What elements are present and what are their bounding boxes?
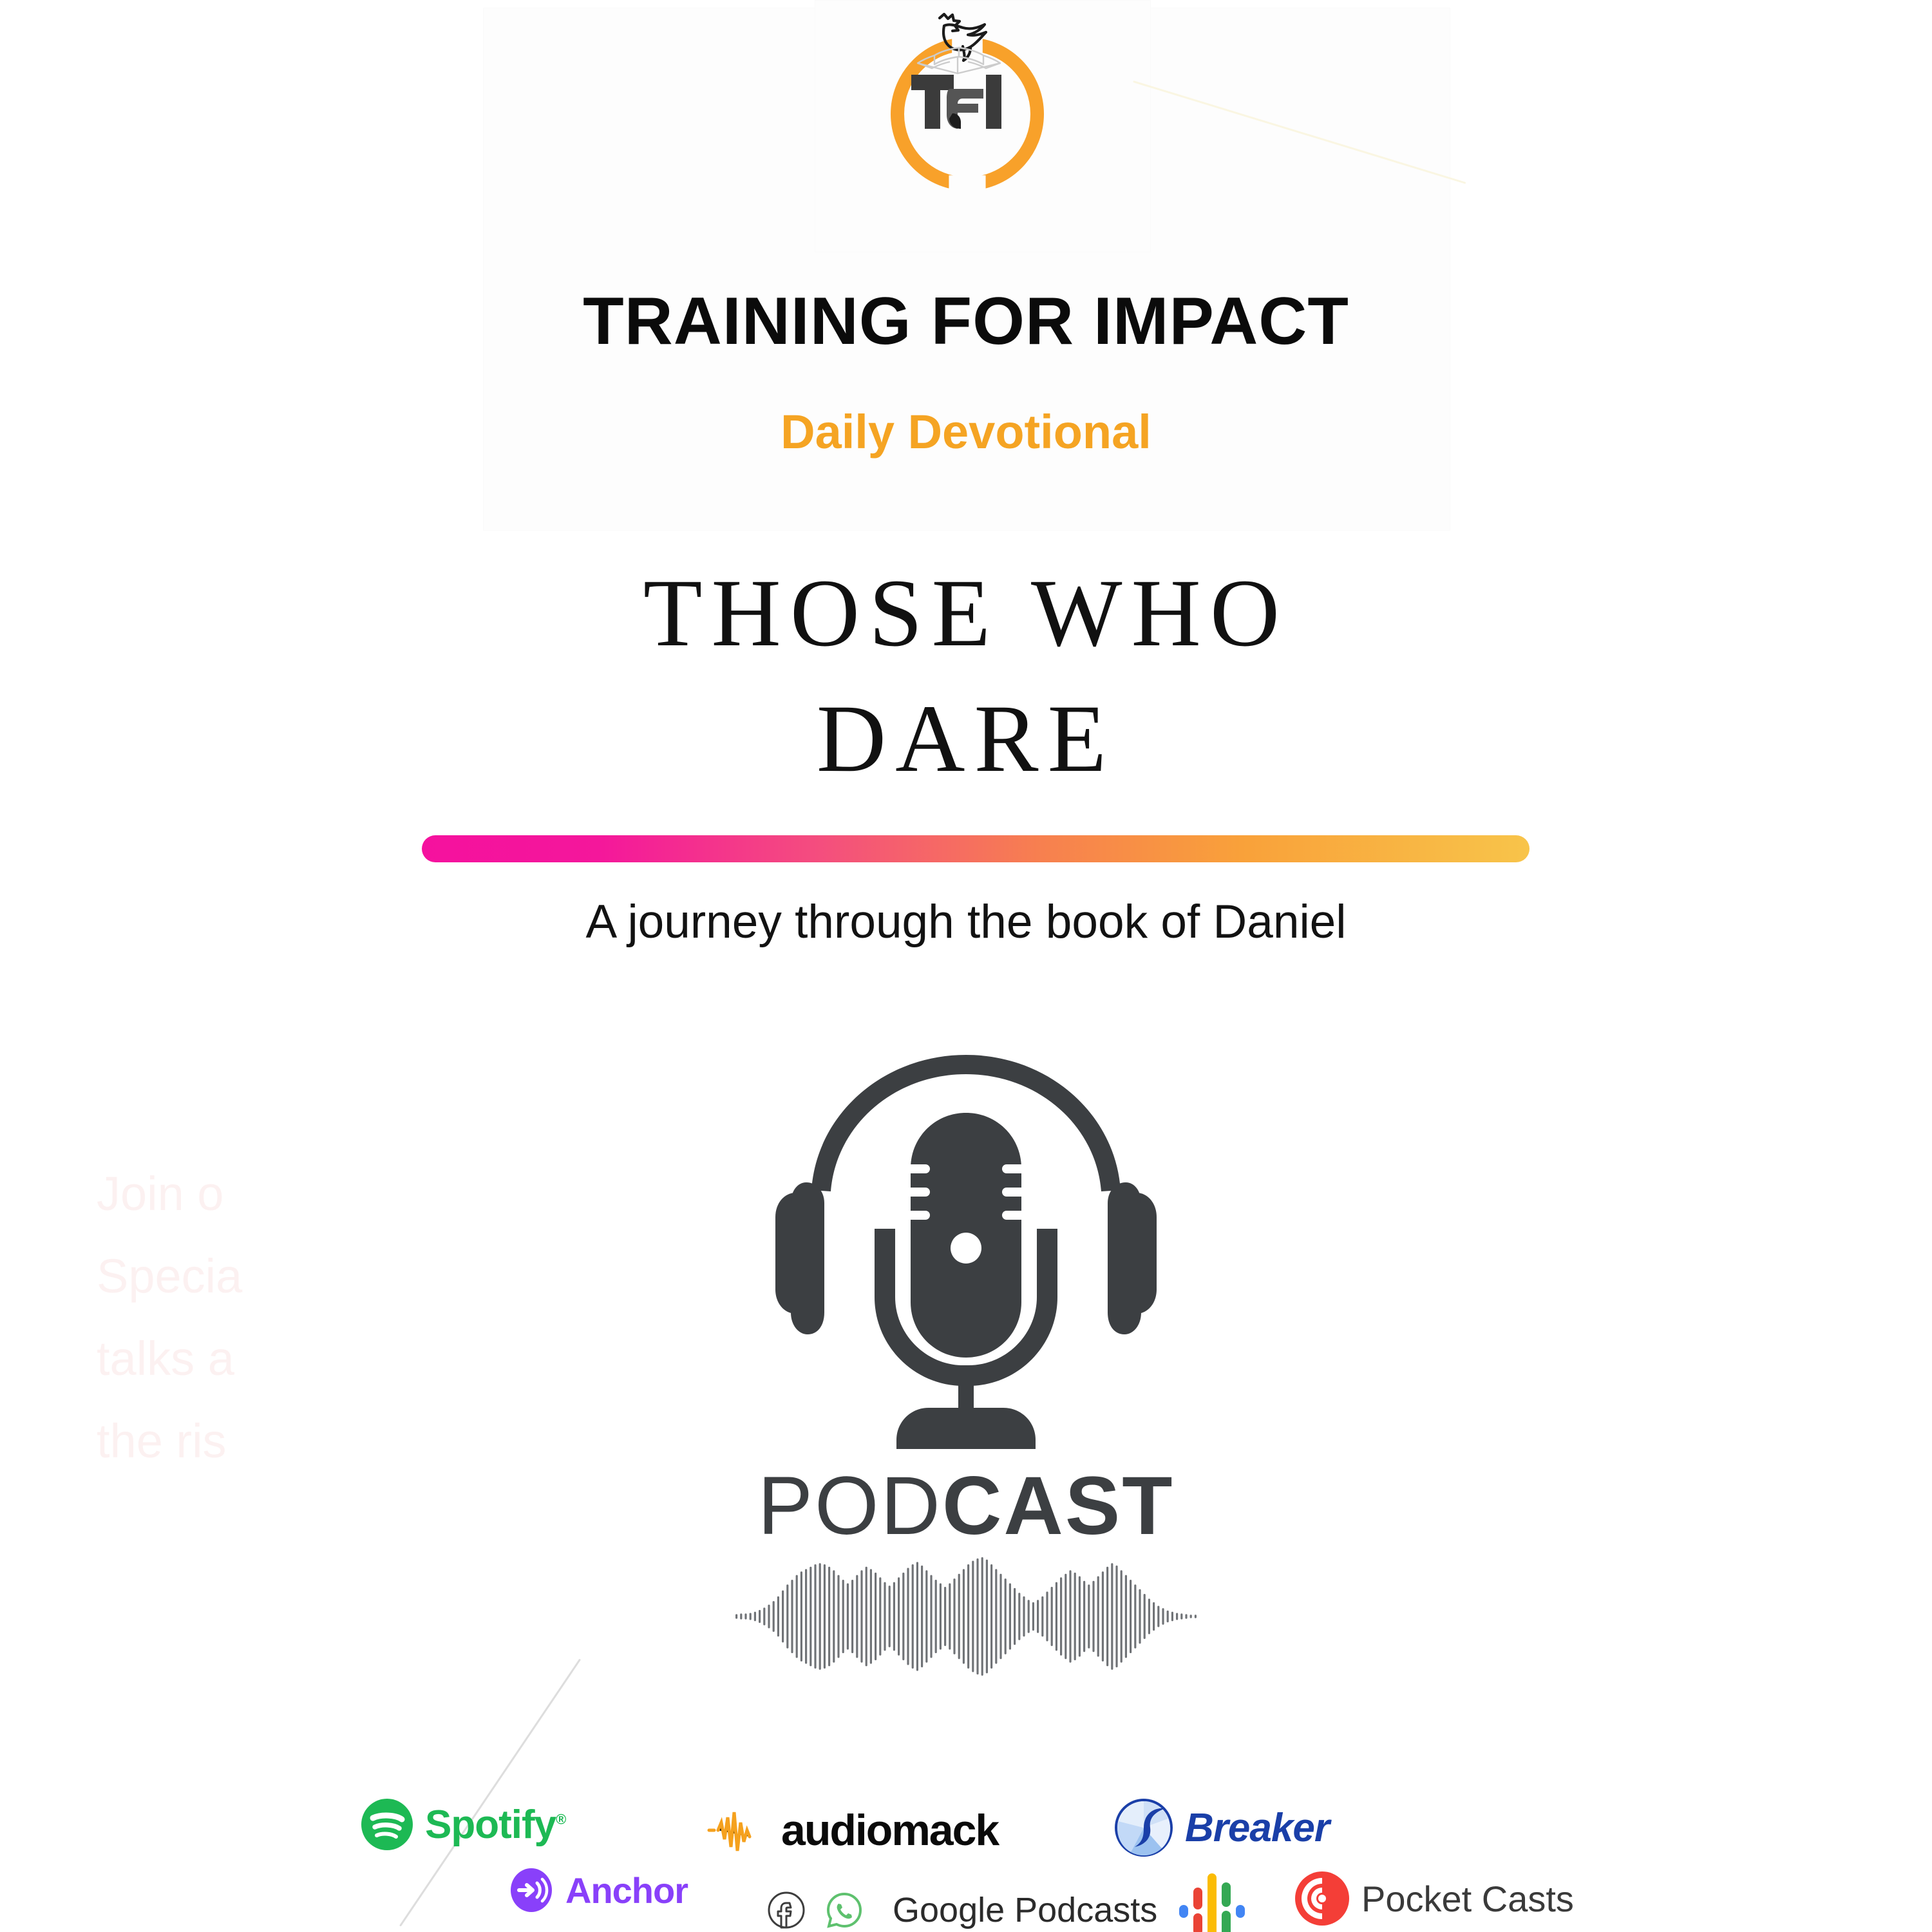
platform-spotify[interactable]: Spotify® [361, 1798, 565, 1851]
podcast-word-cast: CAST [942, 1460, 1174, 1552]
pocket-casts-label: Pocket Casts [1361, 1878, 1574, 1920]
hero-title: THOSE WHO DARE [0, 551, 1932, 802]
whatsapp-icon[interactable] [824, 1890, 864, 1930]
facebook-icon[interactable] [766, 1890, 806, 1930]
podcast-cover-art: Join o Specia talks a the ris [0, 0, 1932, 1932]
platform-pocket-casts[interactable]: Pocket Casts [1294, 1871, 1574, 1926]
google-podcasts-label: Google Podcasts [893, 1890, 1157, 1930]
audiomack-label: audiomack [781, 1805, 998, 1855]
microphone-headphones-icon [734, 1043, 1198, 1455]
podcast-artwork: PODCAST [734, 1043, 1198, 1662]
podcast-word-pod: POD [758, 1460, 942, 1552]
platform-anchor[interactable]: Anchor [509, 1868, 688, 1913]
anchor-icon [509, 1868, 554, 1913]
platform-google-podcasts[interactable]: Google Podcasts [766, 1871, 1246, 1932]
anchor-label: Anchor [565, 1870, 688, 1911]
breaker-label: Breaker [1185, 1805, 1329, 1851]
ghost-line-4: the ris [97, 1400, 258, 1482]
hero-tagline: A journey through the book of Daniel [0, 895, 1932, 949]
spotify-label: Spotify® [425, 1802, 565, 1848]
audio-waveform-icon [734, 1552, 1198, 1681]
logo-glyphs-icon [860, 6, 1079, 219]
platform-audiomack[interactable]: audiomack [705, 1803, 998, 1857]
spotify-label-text: Spotify [425, 1803, 556, 1847]
brand-title: TRAINING FOR IMPACT [0, 283, 1932, 360]
podcast-wordmark: PODCAST [734, 1459, 1198, 1553]
platform-breaker[interactable]: Breaker [1114, 1798, 1329, 1857]
brand-subtitle: Daily Devotional [0, 404, 1932, 459]
hero-title-line-1: THOSE WHO [0, 551, 1932, 676]
hero-title-line-2: DARE [0, 676, 1932, 802]
audiomack-icon [705, 1803, 770, 1857]
breaker-icon [1114, 1798, 1173, 1857]
ghost-line-3: talks a [97, 1318, 258, 1400]
gradient-divider [422, 835, 1529, 862]
ghost-line-1: Join o [97, 1153, 258, 1235]
tfi-logo [860, 6, 1079, 219]
spotify-icon [361, 1798, 413, 1851]
spotify-trademark: ® [556, 1811, 565, 1827]
pocket-casts-icon [1294, 1871, 1350, 1926]
google-podcasts-bars-icon [1178, 1873, 1246, 1932]
ghost-paragraph: Join o Specia talks a the ris [97, 1153, 258, 1482]
ghost-line-2: Specia [97, 1235, 258, 1318]
